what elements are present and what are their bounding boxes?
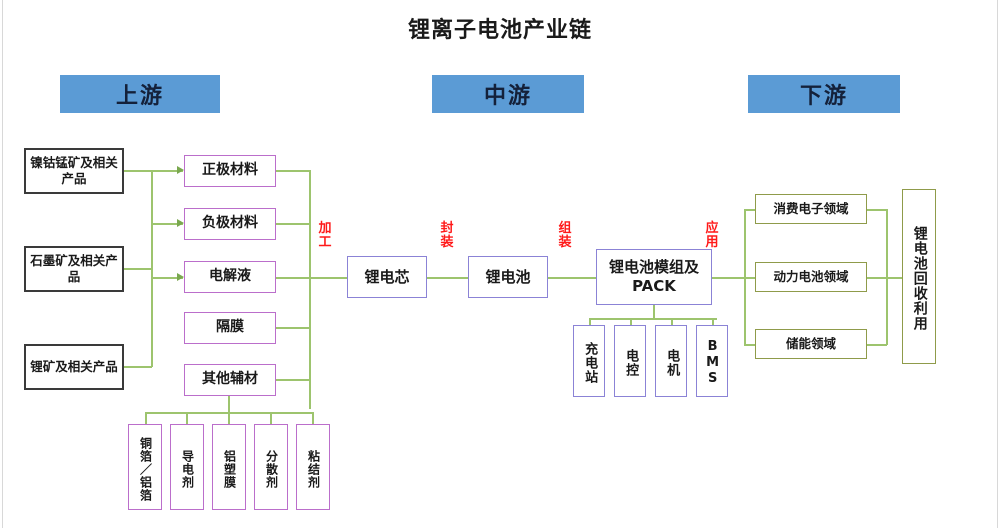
material-box-separator[interactable]: 隔膜 [184, 312, 276, 344]
connector-to-cell [309, 277, 347, 279]
process-label-processing: 加工 [318, 222, 332, 249]
mid-node-cell[interactable]: 锂电芯 [347, 256, 427, 298]
connector-cell-to-battery [427, 277, 468, 279]
connector-anode-out [276, 223, 310, 225]
connector-power-out [867, 277, 902, 279]
pack-child-bms[interactable]: BMS [696, 325, 728, 397]
connector-upstream-right-trunk-lower [309, 277, 311, 409]
material-box-other-auxiliary[interactable]: 其他辅材 [184, 364, 276, 396]
pack-child-charging-station[interactable]: 充电站 [573, 325, 605, 397]
connector-cathode-out [276, 170, 310, 172]
downstream-field-energy-storage[interactable]: 储能领域 [755, 329, 867, 359]
pack-child-electronic-control[interactable]: 电控 [614, 325, 646, 397]
connector-resource1-stub [124, 170, 152, 172]
downstream-field-consumer-electronics[interactable]: 消费电子领域 [755, 194, 867, 224]
application-label: 应用 [705, 222, 719, 249]
connector-electrolyte-out [276, 277, 310, 279]
connector-battery-to-pack [548, 277, 596, 279]
resource-box-nickel-cobalt-manganese[interactable]: 镍钴锰矿及相关产品 [24, 148, 124, 194]
pack-child-motor[interactable]: 电机 [655, 325, 687, 397]
auxiliary-box-aluminum-plastic-film[interactable]: 铝塑膜 [212, 424, 246, 510]
page-edge-right [997, 0, 998, 528]
stage-header-midstream: 中游 [432, 75, 584, 113]
arrow-to-anode [177, 219, 184, 227]
connector-pack-drop [653, 305, 655, 319]
resource-box-graphite[interactable]: 石墨矿及相关产品 [24, 246, 124, 292]
recycling-box[interactable]: 锂电池回收利用 [902, 189, 936, 364]
stage-header-downstream: 下游 [748, 75, 900, 113]
arrow-to-electrolyte [177, 273, 184, 281]
process-label-assembly: 组装 [558, 222, 572, 249]
process-label-packaging: 封装 [440, 222, 454, 249]
connector-resource2-stub [124, 268, 152, 270]
connector-upstream-left-trunk [151, 170, 153, 367]
mid-node-battery[interactable]: 锂电池 [468, 256, 548, 298]
connector-separator-out [276, 327, 310, 329]
connector-consumer-out [867, 209, 887, 211]
downstream-field-power-battery[interactable]: 动力电池领域 [755, 262, 867, 292]
auxiliary-box-binder[interactable]: 粘结剂 [296, 424, 330, 510]
connector-resource3-stub [124, 366, 152, 368]
connector-other-drop [228, 396, 230, 413]
connector-other-out [276, 379, 310, 381]
material-box-cathode[interactable]: 正极材料 [184, 155, 276, 187]
page-title: 锂离子电池产业链 [0, 12, 1000, 44]
resource-box-lithium[interactable]: 锂矿及相关产品 [24, 344, 124, 390]
auxiliary-box-copper-aluminum-foil[interactable]: 铜箔／铝箔 [128, 424, 162, 510]
material-box-electrolyte[interactable]: 电解液 [184, 261, 276, 293]
diagram-canvas: 锂离子电池产业链 上游 中游 下游 镍钴锰矿及相关产品 石墨矿及相关产品 锂矿及… [0, 0, 1000, 528]
auxiliary-box-conductive-agent[interactable]: 导电剂 [170, 424, 204, 510]
page-edge-left [2, 0, 3, 528]
connector-pack-bus [589, 318, 717, 320]
stage-header-upstream: 上游 [60, 75, 220, 113]
mid-node-pack[interactable]: 锂电池模组及PACK [596, 249, 712, 305]
connector-storage-out [867, 344, 887, 346]
material-box-anode[interactable]: 负极材料 [184, 208, 276, 240]
arrow-to-cathode [177, 166, 184, 174]
auxiliary-box-dispersant[interactable]: 分散剂 [254, 424, 288, 510]
connector-downstream-right-trunk [886, 209, 888, 345]
